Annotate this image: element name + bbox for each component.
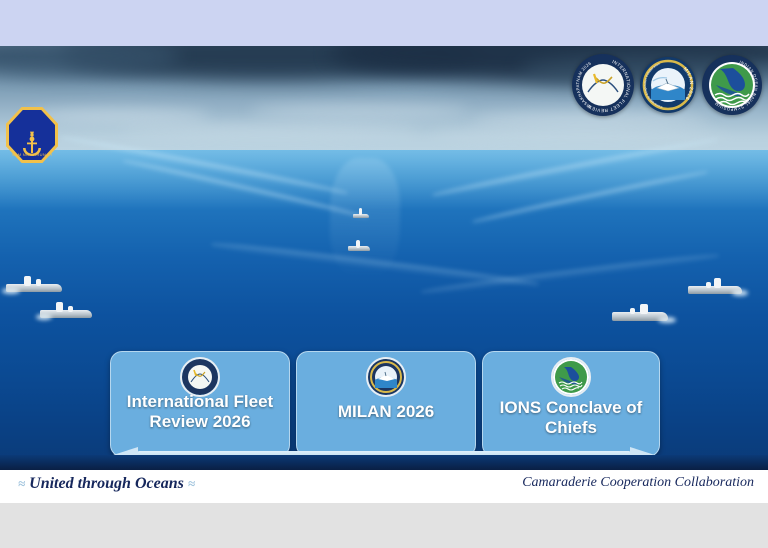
- card-international-fleet-review[interactable]: International Fleet Review 2026: [110, 351, 290, 457]
- banner-screen: SAM NO VARUNAH INTERNATIONAL FLEET REVIE…: [0, 0, 768, 548]
- ions-logo-ring: INDIAN OCEAN NAVAL SYMPOSIUM: [702, 55, 762, 115]
- ifr-logo-ring: INTERNATIONAL FLEET REVIEW VISAKHAPATNAM…: [572, 54, 634, 116]
- ions-badge-icon: [551, 357, 591, 397]
- wave-icon: ≈: [18, 476, 25, 492]
- top-band: [0, 0, 768, 46]
- tagline-left-wrap: ≈ United through Oceans ≈: [18, 475, 195, 493]
- navy-divider-band: [0, 455, 768, 470]
- footer-area: [0, 503, 768, 548]
- event-cards: International Fleet Review 2026 MILAN 20…: [110, 351, 658, 455]
- card-ions-conclave[interactable]: IONS Conclave of Chiefs: [482, 351, 660, 457]
- light-cloud: [250, 104, 470, 118]
- light-cloud: [430, 128, 730, 140]
- tagline-right: Camaraderie Cooperation Collaboration: [522, 475, 754, 491]
- crest-motto: SAM NO VARUNAH: [6, 152, 58, 157]
- tagline-strip: ≈ United through Oceans ≈ Camaraderie Co…: [0, 470, 768, 503]
- card-label: MILAN 2026: [303, 402, 469, 422]
- ions-logo-icon[interactable]: INDIAN OCEAN NAVAL SYMPOSIUM: [702, 55, 762, 115]
- milan-logo-ring: MILAN 2026 Camaraderie Cooperation Colla…: [640, 57, 696, 113]
- ifr-badge-icon: [180, 357, 220, 397]
- ifr-2026-logo-icon[interactable]: INTERNATIONAL FLEET REVIEW VISAKHAPATNAM…: [572, 54, 634, 116]
- light-cloud: [120, 124, 420, 137]
- card-label: IONS Conclave of Chiefs: [489, 398, 653, 438]
- card-label: International Fleet Review 2026: [117, 392, 283, 432]
- card-milan-2026[interactable]: MILAN 2026: [296, 351, 476, 457]
- event-logo-row: INTERNATIONAL FLEET REVIEW VISAKHAPATNAM…: [572, 54, 762, 116]
- milan-2026-logo-icon[interactable]: MILAN 2026 Camaraderie Cooperation Colla…: [640, 57, 696, 113]
- milan-badge-icon: [366, 357, 406, 397]
- tagline-left: United through Oceans: [29, 475, 184, 492]
- wave-icon: ≈: [188, 476, 195, 492]
- indian-navy-crest-icon: SAM NO VARUNAH: [6, 107, 58, 163]
